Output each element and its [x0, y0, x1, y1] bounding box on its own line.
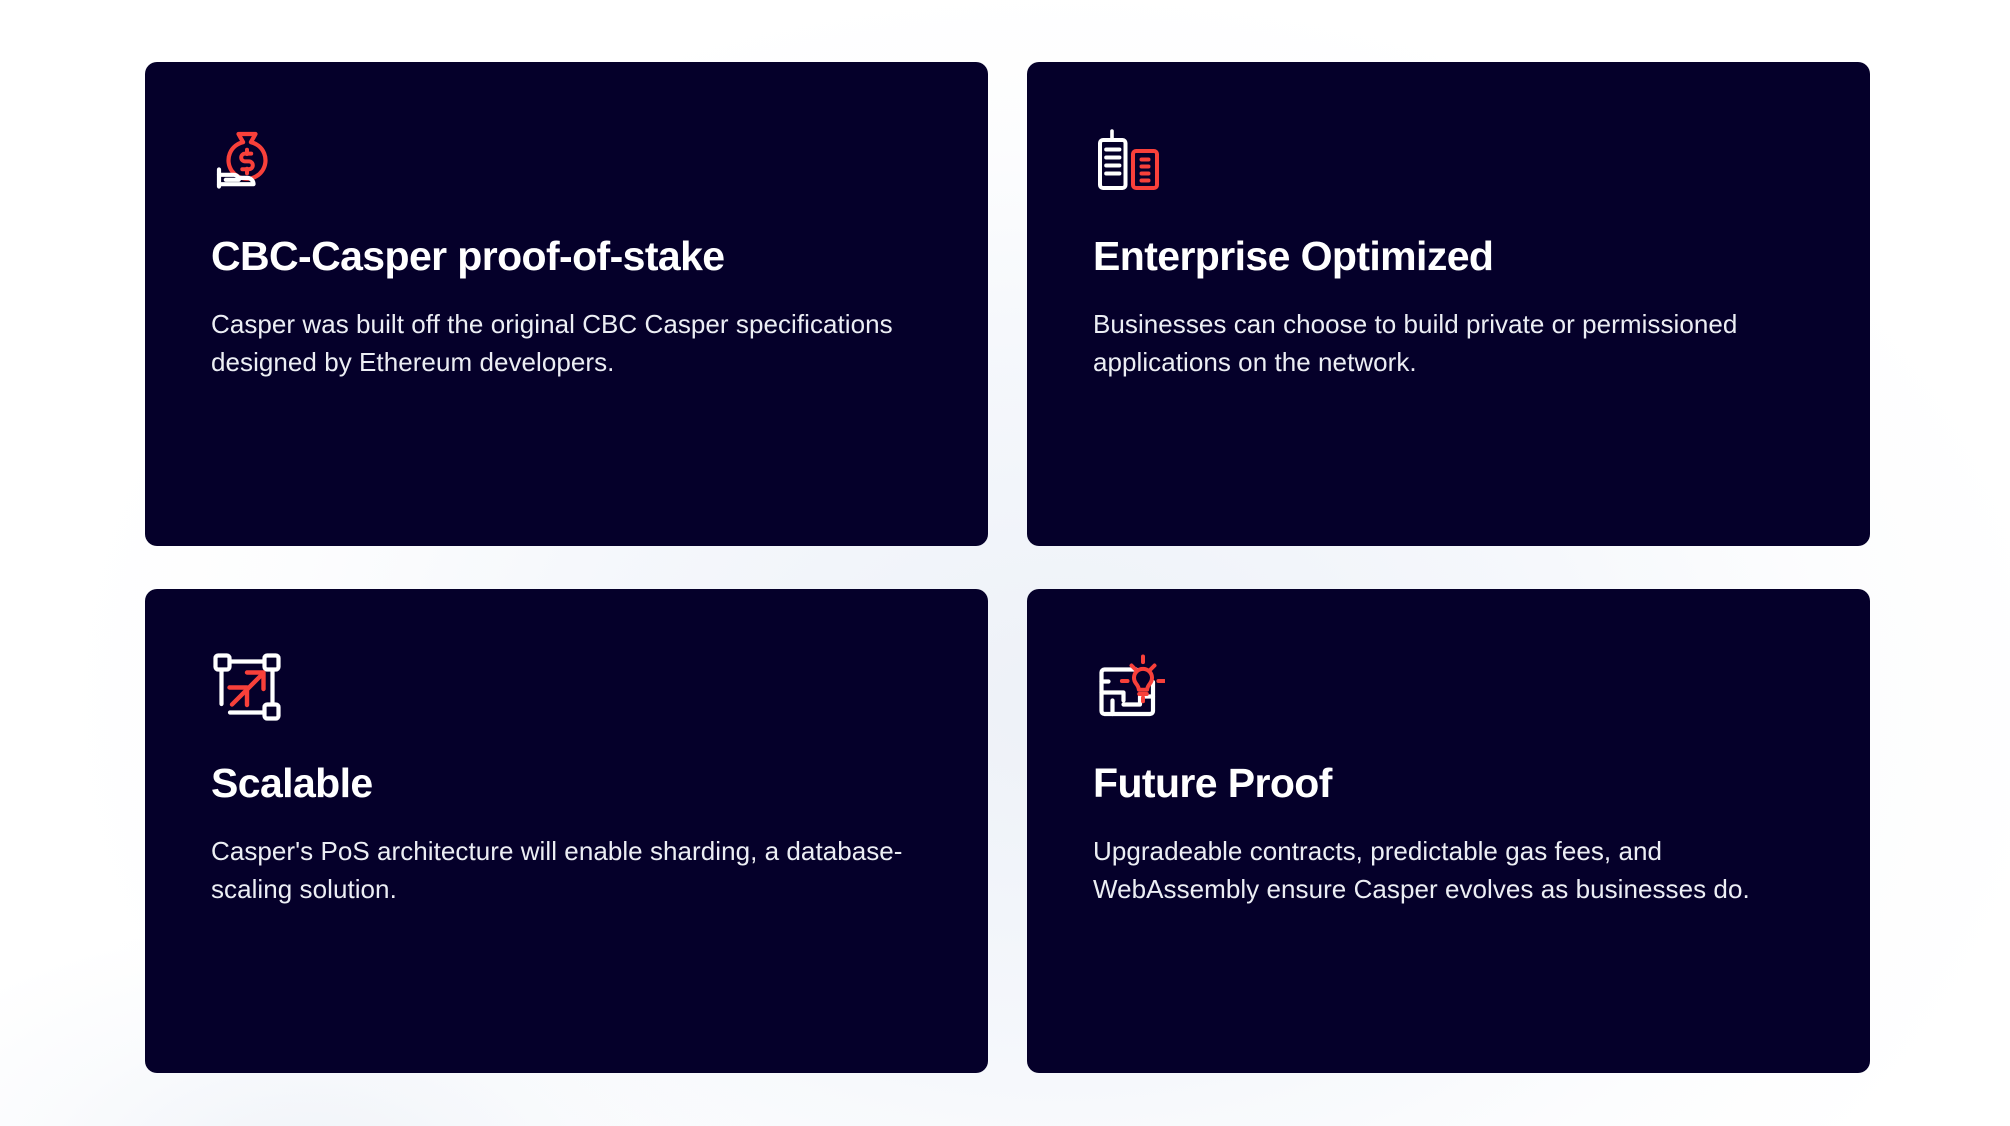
- money-bag-in-hand-icon: [211, 124, 283, 196]
- feature-card-grid: CBC-Casper proof-of-stake Casper was bui…: [145, 62, 1870, 1073]
- feature-card-title: Future Proof: [1093, 761, 1804, 807]
- feature-card-title: Enterprise Optimized: [1093, 234, 1804, 280]
- feature-card-body: Businesses can choose to build private o…: [1093, 306, 1793, 382]
- feature-card-cbc-casper-proof-of-stake[interactable]: CBC-Casper proof-of-stake Casper was bui…: [145, 62, 988, 546]
- blueprint-lightbulb-icon: [1093, 651, 1165, 723]
- feature-card-title: Scalable: [211, 761, 922, 807]
- feature-card-enterprise-optimized[interactable]: Enterprise Optimized Businesses can choo…: [1027, 62, 1870, 546]
- feature-card-body: Upgradeable contracts, predictable gas f…: [1093, 833, 1793, 909]
- scale-resize-arrow-icon: [211, 651, 283, 723]
- feature-card-scalable[interactable]: Scalable Casper's PoS architecture will …: [145, 589, 988, 1073]
- feature-card-title: CBC-Casper proof-of-stake: [211, 234, 922, 280]
- office-buildings-icon: [1093, 124, 1165, 196]
- feature-card-body: Casper was built off the original CBC Ca…: [211, 306, 911, 382]
- feature-card-body: Casper's PoS architecture will enable sh…: [211, 833, 911, 909]
- feature-card-future-proof[interactable]: Future Proof Upgradeable contracts, pred…: [1027, 589, 1870, 1073]
